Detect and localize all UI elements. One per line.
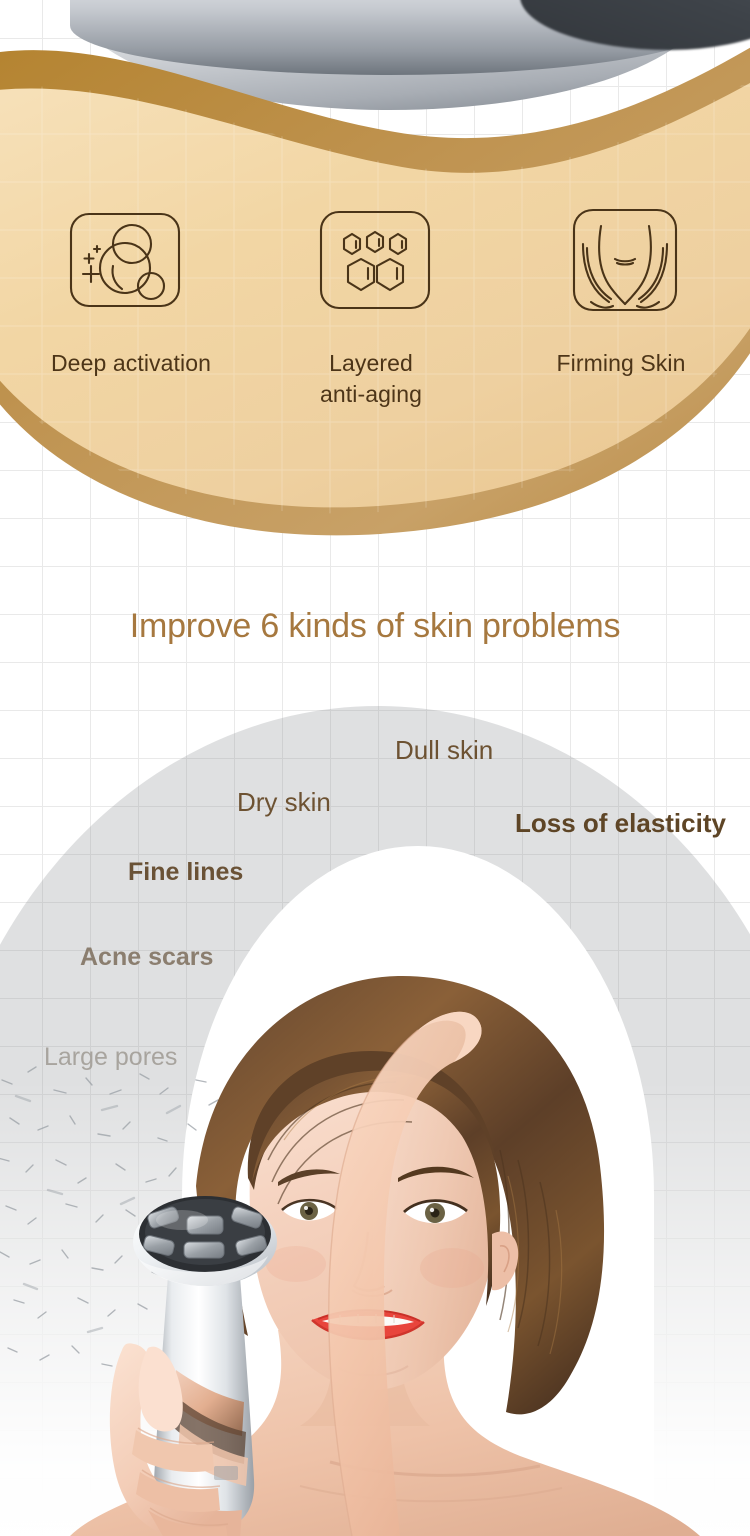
face-lifting-icon: [553, 196, 697, 324]
page-title: Improve 6 kinds of skin problems: [0, 604, 750, 648]
bubbles-sparkle-icon: [53, 196, 197, 324]
feature-label: Layered anti-aging: [320, 348, 422, 410]
product-marketing-page: Deep activation: [0, 0, 750, 1536]
feature-item-firming-skin[interactable]: Firming Skin: [500, 196, 750, 410]
problem-label-dry-skin: Dry skin: [237, 787, 331, 817]
problem-label-loss-of-elasticity: Loss of elasticity: [515, 808, 726, 838]
feature-item-deep-activation[interactable]: Deep activation: [0, 196, 250, 410]
beauty-device: [92, 1180, 322, 1536]
honeycomb-hexagons-icon: [303, 196, 447, 324]
feature-row: Deep activation: [0, 196, 750, 410]
feature-label: Firming Skin: [556, 348, 685, 379]
problem-label-dull-skin: Dull skin: [395, 735, 493, 765]
feature-label: Deep activation: [51, 348, 211, 379]
feature-item-layered-anti-aging[interactable]: Layered anti-aging: [250, 196, 500, 410]
